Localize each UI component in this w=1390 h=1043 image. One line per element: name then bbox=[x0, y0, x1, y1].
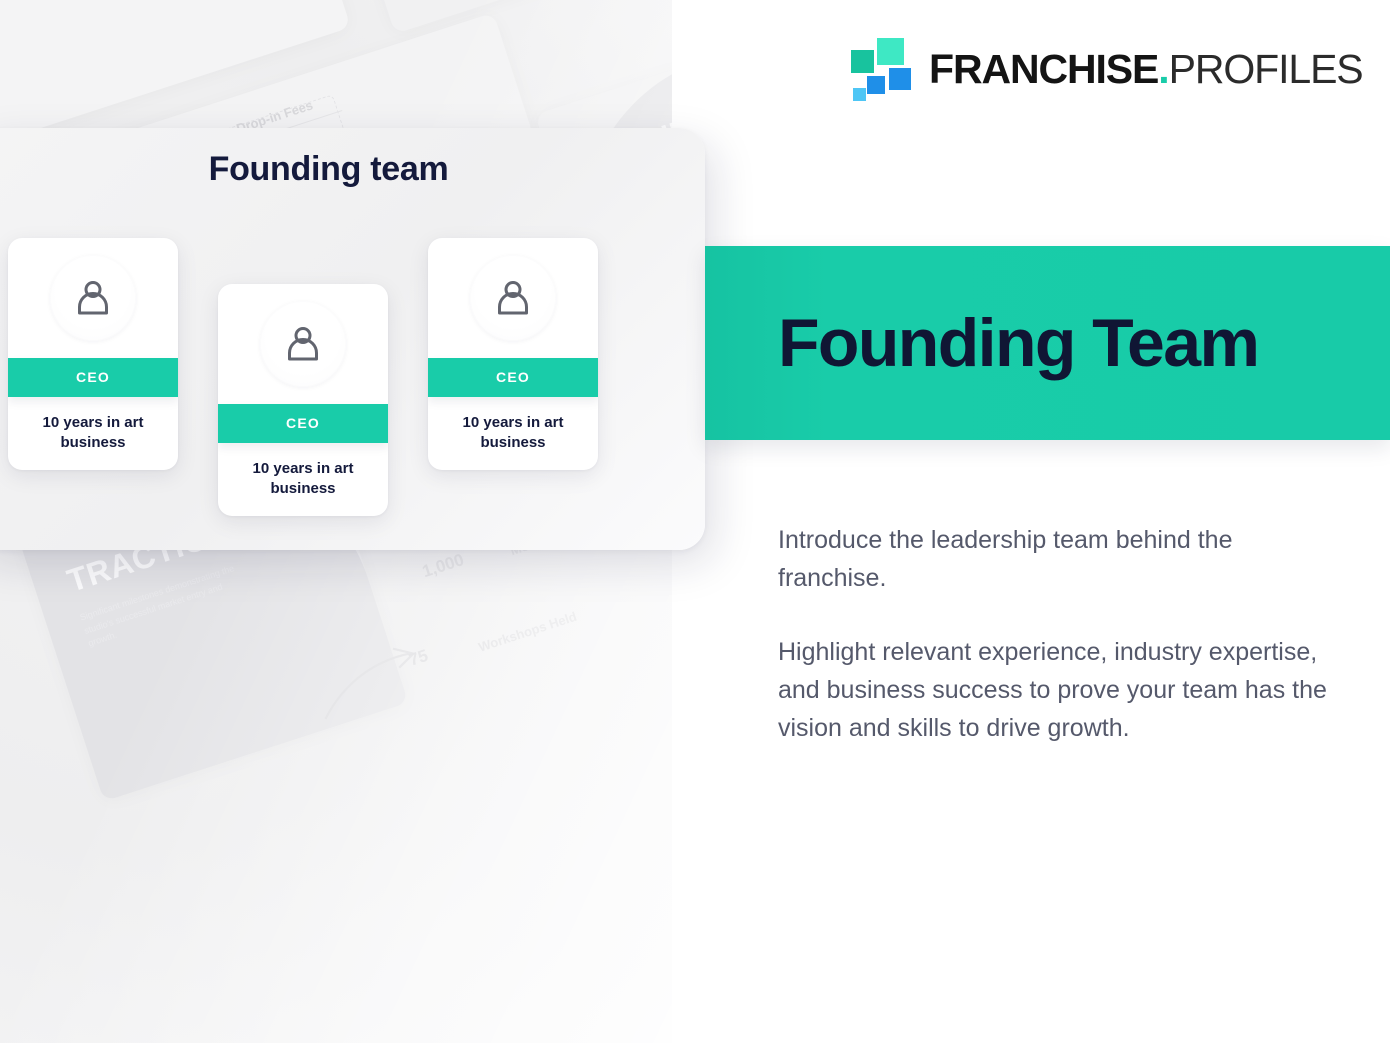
role-badge: CEO bbox=[8, 358, 178, 397]
brand-logo[interactable]: FRANCHISE.PROFILES bbox=[851, 38, 1363, 100]
logo-word-light: PROFILES bbox=[1169, 46, 1363, 92]
avatar-circle bbox=[260, 301, 346, 387]
page-title: Founding Team bbox=[705, 309, 1258, 377]
title-banner: Founding Team bbox=[705, 246, 1390, 440]
member-experience-note: 10 years in art business bbox=[8, 397, 178, 470]
avatar-circle bbox=[470, 255, 556, 341]
logo-word-bold: FRANCHISE bbox=[929, 46, 1158, 92]
founding-team-member-list: CEO 10 years in art business CEO 10 year… bbox=[6, 238, 626, 538]
avatar bbox=[428, 238, 598, 358]
description-text: Introduce the leadership team behind the… bbox=[778, 521, 1346, 747]
description-paragraph-2: Highlight relevant experience, industry … bbox=[778, 633, 1346, 747]
deck-stat-value-1000: 1,000 bbox=[419, 549, 466, 582]
member-experience-note: 10 years in art business bbox=[218, 443, 388, 516]
logo-word-dot: . bbox=[1158, 46, 1168, 92]
logo-square-teal-large bbox=[877, 38, 904, 65]
role-badge: CEO bbox=[428, 358, 598, 397]
person-icon bbox=[492, 277, 534, 319]
role-badge: CEO bbox=[218, 404, 388, 443]
avatar bbox=[8, 238, 178, 358]
team-member-card[interactable]: CEO 10 years in art business bbox=[428, 238, 598, 470]
description-paragraph-1: Introduce the leadership team behind the… bbox=[778, 521, 1346, 597]
logo-square-blue-mid bbox=[867, 76, 885, 94]
person-icon bbox=[282, 323, 324, 365]
team-member-card[interactable]: CEO 10 years in art business bbox=[218, 284, 388, 516]
slide-preview-title: Founding team bbox=[0, 150, 681, 189]
logo-square-green bbox=[851, 50, 874, 73]
logo-square-blue-right bbox=[889, 68, 911, 90]
avatar bbox=[218, 284, 388, 404]
logo-mark-icon bbox=[851, 38, 911, 100]
slide-preview-card[interactable]: Founding team CEO 10 years in art busine… bbox=[0, 128, 705, 550]
logo-wordmark: FRANCHISE.PROFILES bbox=[929, 49, 1363, 90]
team-member-card[interactable]: CEO 10 years in art business bbox=[8, 238, 178, 470]
avatar-circle bbox=[50, 255, 136, 341]
logo-square-lightblue bbox=[853, 88, 866, 101]
deck-stat-label-workshops-held: Workshops Held bbox=[476, 609, 578, 656]
person-icon bbox=[72, 277, 114, 319]
member-experience-note: 10 years in art business bbox=[428, 397, 598, 470]
